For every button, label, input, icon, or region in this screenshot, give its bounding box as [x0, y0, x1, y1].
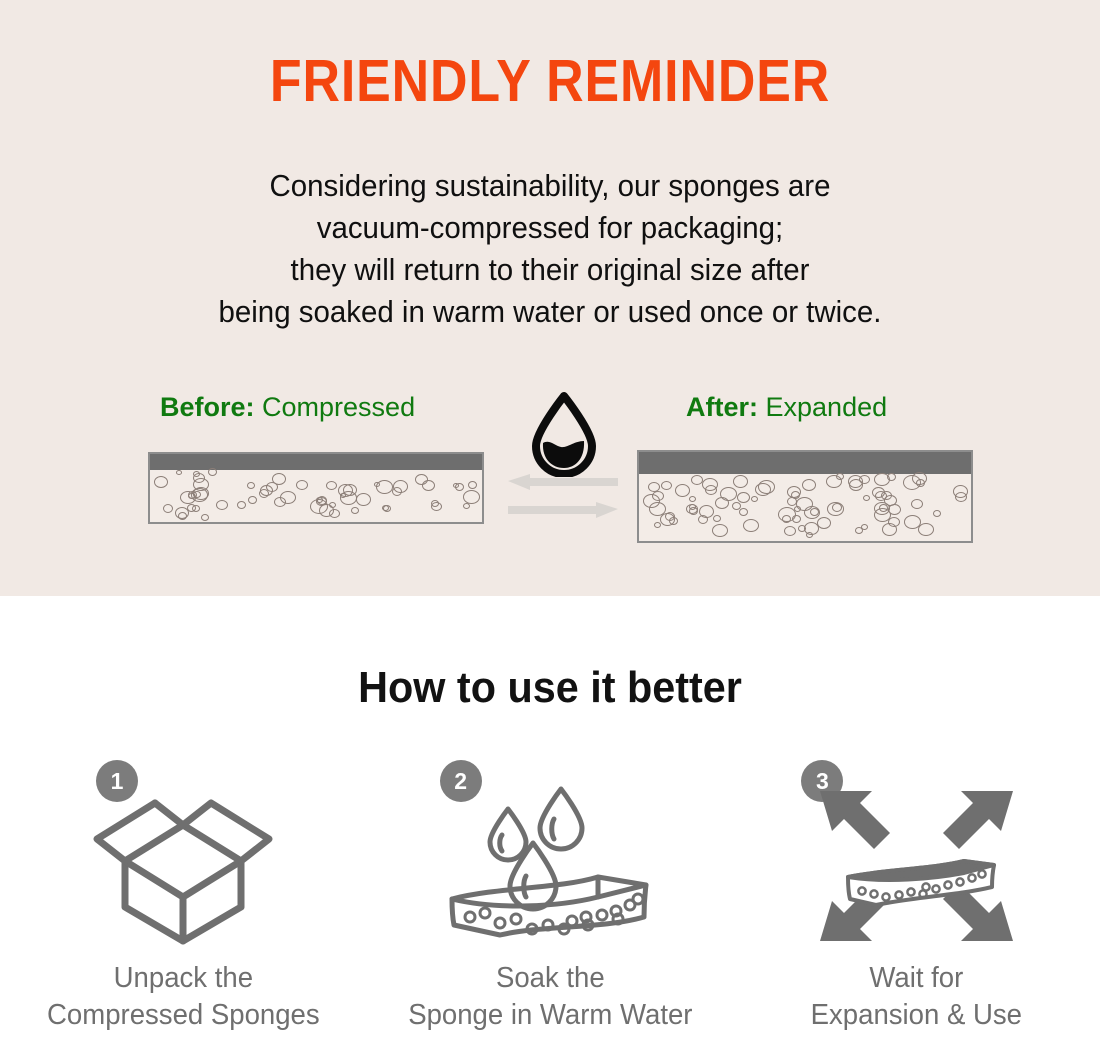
expanding-arrows-sponge-icon: [733, 776, 1100, 956]
sponge-pore: [691, 475, 703, 485]
sponge-pore: [468, 481, 477, 489]
reminder-body-line: they will return to their original size …: [28, 249, 1073, 291]
sponge-pore: [356, 493, 371, 506]
water-drop-icon: [528, 391, 600, 482]
sponge-pore: [689, 496, 696, 502]
sponge-pore: [675, 484, 690, 497]
compressed-sponge-illustration: [148, 452, 484, 524]
sponge-pore: [163, 504, 173, 513]
reminder-body: Considering sustainability, our sponges …: [28, 165, 1073, 333]
sponge-pore: [751, 496, 758, 502]
sponge-pore: [855, 527, 863, 534]
sponge-pore: [382, 505, 389, 511]
after-label-value: Expanded: [766, 392, 888, 422]
sponge-pore: [237, 501, 246, 509]
sponge-pore: [176, 470, 182, 475]
sponge-pore: [827, 502, 844, 516]
sponge-pore: [208, 468, 217, 476]
expanded-sponge-illustration: [637, 450, 973, 543]
sponge-pore: [887, 473, 896, 481]
sponge-pore: [193, 473, 205, 483]
sponge-pores: [150, 454, 482, 522]
sponge-pore: [296, 480, 308, 490]
step-caption: Unpack the Compressed Sponges: [9, 960, 357, 1034]
sponge-pore: [463, 490, 480, 504]
sponge-pore: [280, 491, 296, 504]
sponge-pore: [329, 509, 340, 518]
sponge-pore: [178, 512, 187, 520]
sponge-pore: [705, 485, 717, 495]
sponge-pore: [310, 499, 328, 514]
sponge-pore: [784, 526, 796, 536]
sponge-pore: [806, 532, 813, 538]
arrow-right-icon: [508, 502, 618, 518]
sponge-pore: [216, 500, 228, 510]
sponge-pore: [374, 482, 380, 487]
reminder-body-line: vacuum-compressed for packaging;: [28, 207, 1073, 249]
sponge-pore: [187, 504, 196, 512]
sponge-pore: [652, 491, 664, 501]
reminder-body-line: being soaked in warm water or used once …: [28, 291, 1073, 333]
sponge-pore: [863, 495, 870, 501]
sponge-pore: [201, 514, 209, 521]
sponge-pore: [713, 515, 721, 522]
sponge-pore: [689, 507, 698, 515]
sponge-pore: [758, 480, 775, 494]
sponge-pore: [911, 499, 923, 509]
steps-row: 1: [0, 748, 1100, 1038]
sponge-pore: [669, 517, 678, 525]
before-label-value: Compressed: [262, 392, 415, 422]
sponge-pore: [188, 491, 197, 499]
sponge-pore: [787, 497, 797, 506]
sponge-pore: [248, 496, 257, 504]
step-caption-line: Expansion & Use: [743, 997, 1091, 1034]
sponge-pore: [912, 472, 927, 485]
sponge-pore: [733, 475, 748, 488]
after-label: After: Expanded: [686, 392, 887, 423]
step-caption-line: Wait for: [743, 960, 1091, 997]
sponge-pore: [698, 515, 708, 524]
step-item: 1: [0, 748, 367, 1038]
step-item: 2: [367, 748, 734, 1038]
arrow-left-icon: [508, 474, 618, 490]
sponge-pore: [392, 487, 402, 496]
sponge-pore: [326, 481, 337, 490]
sponge-pore: [340, 493, 346, 498]
sponge-pore: [154, 476, 168, 488]
sponge-pore: [415, 474, 428, 485]
sponge-pore: [463, 503, 470, 509]
exchange-arrows: [508, 474, 618, 523]
sponge-pore: [817, 517, 831, 529]
sponge-pore: [933, 510, 941, 517]
sponge-pore: [849, 479, 863, 491]
sponge-pore: [836, 473, 844, 480]
sponge-pore: [782, 515, 791, 523]
sponge-pore: [247, 482, 255, 489]
sponge-pore: [654, 522, 661, 528]
how-to-title: How to use it better: [33, 663, 1067, 713]
before-label: Before: Compressed: [160, 392, 415, 423]
sponge-pore: [431, 502, 442, 511]
sponge-pore: [802, 479, 816, 491]
sponge-pore: [743, 519, 759, 532]
step-caption: Soak the Sponge in Warm Water: [376, 960, 724, 1034]
sponge-pore: [955, 492, 967, 502]
reminder-body-line: Considering sustainability, our sponges …: [28, 165, 1073, 207]
step-item: 3: [733, 748, 1100, 1038]
sponge-pore: [804, 506, 820, 519]
sponge-pore: [888, 504, 901, 515]
sponge-pore: [661, 481, 672, 490]
sponge-pore: [266, 482, 278, 492]
sponge-pores: [639, 452, 971, 541]
sponge-pore: [787, 486, 801, 498]
sponge-pore: [792, 515, 801, 523]
sponge-pore: [712, 524, 728, 537]
sponge-pore: [737, 492, 750, 503]
step-caption-line: Sponge in Warm Water: [376, 997, 724, 1034]
before-label-prefix: Before:: [160, 392, 255, 422]
transformation-indicator: [508, 391, 618, 516]
sponge-pore: [453, 483, 459, 488]
water-drops-on-sponge-icon: [367, 776, 734, 956]
sponge-pore: [918, 523, 934, 536]
infographic-page: FRIENDLY REMINDER Considering sustainabi…: [0, 0, 1100, 1039]
sponge-pore: [739, 508, 748, 516]
step-caption-line: Unpack the: [9, 960, 357, 997]
step-caption: Wait for Expansion & Use: [743, 960, 1091, 1034]
step-caption-line: Compressed Sponges: [9, 997, 357, 1034]
page-title: FRIENDLY REMINDER: [66, 52, 1034, 111]
after-label-prefix: After:: [686, 392, 758, 422]
sponge-pore: [720, 487, 737, 501]
sponge-pore: [351, 507, 359, 514]
step-caption-line: Soak the: [376, 960, 724, 997]
open-box-icon: [0, 776, 367, 956]
sponge-pore: [881, 491, 892, 500]
